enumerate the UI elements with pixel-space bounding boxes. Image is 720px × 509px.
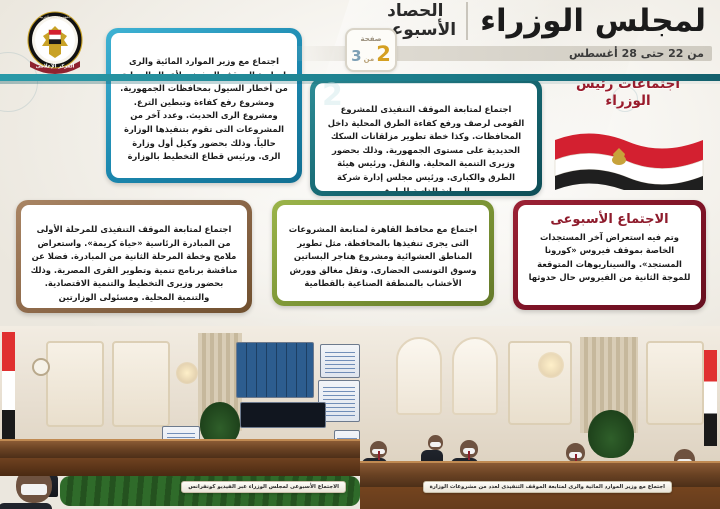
hall-arch <box>396 337 442 415</box>
photo-right: الاجتماع الأسبوعى لمجلس الوزراء عبر الفي… <box>0 326 360 509</box>
hall-panel <box>46 341 104 427</box>
card-1-title: الاجتماع الأسبوعى <box>527 212 692 228</box>
hall-panel <box>508 341 572 425</box>
egypt-flag-standing <box>704 350 717 446</box>
cabinet-information-center-logo: المركز الإعلامى جمهورية مصر العربية <box>22 6 88 80</box>
pm-meetings-banner: اجتماعات رئيس الوزراء <box>545 72 711 194</box>
video-conference-screen <box>236 342 314 398</box>
card-5-number: 5 <box>28 202 47 230</box>
card-5-body: اجتماع لمتابعة الموقف التنفيذى للمرحلة ا… <box>30 223 238 305</box>
photo-strip: اجتماع مع وزير الموارد المائية والرى لمت… <box>0 326 720 509</box>
header-subtitle-line1: الحصاد <box>374 2 456 21</box>
potted-plant <box>588 410 634 458</box>
wall-clock-icon <box>32 358 50 376</box>
photo-right-caption: الاجتماع الأسبوعى لمجلس الوزراء عبر الفي… <box>181 481 346 493</box>
photo-left-caption: اجتماع مع وزير الموارد المائية والرى لمت… <box>423 481 672 493</box>
infographic-page: لمجلس الوزراء الحصاد الأسبوعى من 22 حتى … <box>0 0 720 509</box>
card-4-body-wrap: اجتماع مع محافظ القاهرة لمتابعة المشروعا… <box>277 205 489 301</box>
page-badge-numbers: 2 من 3 <box>351 44 391 65</box>
header-title-group: لمجلس الوزراء الحصاد الأسبوعى <box>374 2 706 41</box>
page-title: لمجلس الوزراء <box>480 2 706 41</box>
card-item-4: 4 اجتماع مع محافظ القاهرة لمتابعة المشرو… <box>272 200 494 306</box>
necktie <box>378 451 380 459</box>
egypt-flag-standing <box>2 332 15 450</box>
card-5-body-wrap: اجتماع لمتابعة الموقف التنفيذى للمرحلة ا… <box>21 205 247 308</box>
page-number-badge: صفحة 2 من 3 <box>345 28 397 72</box>
face-mask-icon <box>21 484 47 495</box>
logo-top-text: جمهورية مصر العربية <box>39 15 71 19</box>
card-4-number: 4 <box>283 202 302 230</box>
card-2-body: اجتماع لمتابعة الموقف التنفيذى للمشروع ا… <box>324 103 528 191</box>
wall-sconce-icon <box>538 352 564 378</box>
face-mask-icon <box>430 442 441 447</box>
person-body <box>0 503 52 509</box>
card-1-number: 1 <box>524 202 543 230</box>
necktie <box>468 451 470 460</box>
date-range-label: من 22 حتى 28 أغسطس <box>569 47 704 60</box>
card-2-body-wrap: اجتماع لمتابعة الموقف التنفيذى للمشروع ا… <box>315 83 537 191</box>
hall-arch <box>452 337 498 415</box>
card-item-1: 1 الاجتماع الأسبوعى وتم فيه استعراض آخر … <box>513 200 706 310</box>
wall-sconce-icon <box>176 362 198 384</box>
page-badge-current: 2 <box>376 44 391 65</box>
egypt-flag-icon <box>551 120 709 190</box>
wall-display-off <box>240 402 326 428</box>
card-2-number: 2 <box>322 81 343 111</box>
page-badge-of: من <box>364 55 375 63</box>
hall-panel <box>646 341 704 425</box>
card-4-body: اجتماع مع محافظ القاهرة لمتابعة المشروعا… <box>286 223 480 291</box>
card-item-2: 2 اجتماع لمتابعة الموقف التنفيذى للمشروع… <box>310 78 542 196</box>
logo-ribbon-text: المركز الإعلامى <box>36 64 75 70</box>
pm-meetings-caption-line2: الوزراء <box>605 93 650 109</box>
seated-official <box>460 440 478 461</box>
card-1-body-wrap: الاجتماع الأسبوعى وتم فيه استعراض آخر ال… <box>518 205 701 305</box>
card-item-5: 5 اجتماع لمتابعة الموقف التنفيذى للمرحلة… <box>16 200 252 313</box>
card-1-body: وتم فيه استعراض آخر المستجدات الخاصة بمو… <box>527 231 692 285</box>
photo-left: اجتماع مع وزير الموارد المائية والرى لمت… <box>360 326 720 509</box>
conference-table-front <box>0 458 360 476</box>
presentation-screen <box>320 344 360 378</box>
hall-panel <box>112 341 170 427</box>
conference-table <box>0 439 360 457</box>
seated-official <box>370 441 387 461</box>
seated-official <box>428 435 443 453</box>
page-badge-total: 3 <box>351 49 361 64</box>
